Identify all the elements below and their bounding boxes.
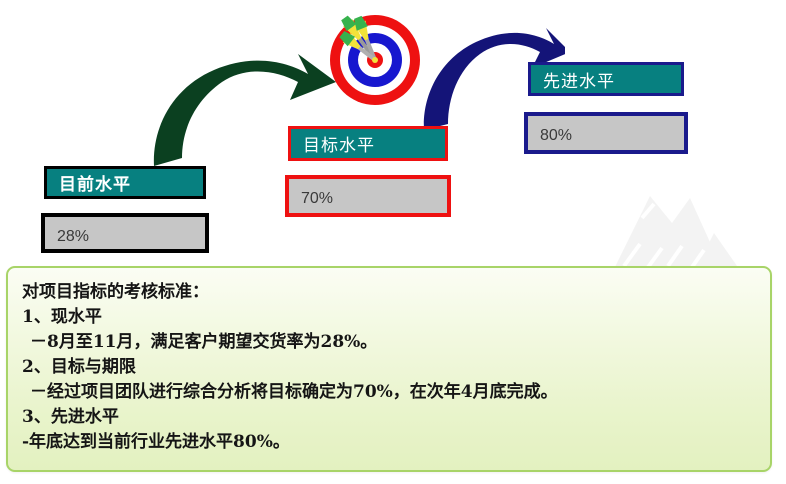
level-title-current[interactable]: 目前水平 (44, 166, 206, 199)
level-group-advanced: 先进水平 80% (528, 62, 688, 154)
level-title-target[interactable]: 目标水平 (288, 126, 448, 161)
level-value-advanced[interactable]: 80% (524, 112, 688, 154)
description-line-1: 1、现水平 (22, 305, 770, 330)
description-line-5: 3、先进水平 (22, 405, 770, 430)
level-value-current[interactable]: 28% (41, 213, 209, 253)
watermark-graphic (602, 178, 752, 278)
level-value-target[interactable]: 70% (285, 175, 451, 217)
description-heading: 对项目指标的考核标准： (22, 280, 770, 305)
description-line-6: -年底达到当前行业先进水平80%。 (22, 430, 770, 455)
description-line-2: －8月至11月，满足客户期望交货率为28%。 (22, 330, 770, 355)
level-group-current: 目前水平 28% (44, 166, 209, 253)
description-line-3: 2、目标与期限 (22, 355, 770, 380)
description-panel: 对项目指标的考核标准： 1、现水平 －8月至11月，满足客户期望交货率为28%。… (6, 266, 772, 472)
level-group-target: 目标水平 70% (288, 126, 451, 217)
description-line-4: －经过项目团队进行综合分析将目标确定为70%，在次年4月底完成。 (22, 380, 770, 405)
slide-canvas: 目前水平 28% 目标水平 70% 先进水平 80% 对项目指标的考核标准： 1… (0, 0, 786, 484)
level-title-advanced[interactable]: 先进水平 (528, 62, 684, 96)
dartboard-target-icon (327, 12, 423, 108)
